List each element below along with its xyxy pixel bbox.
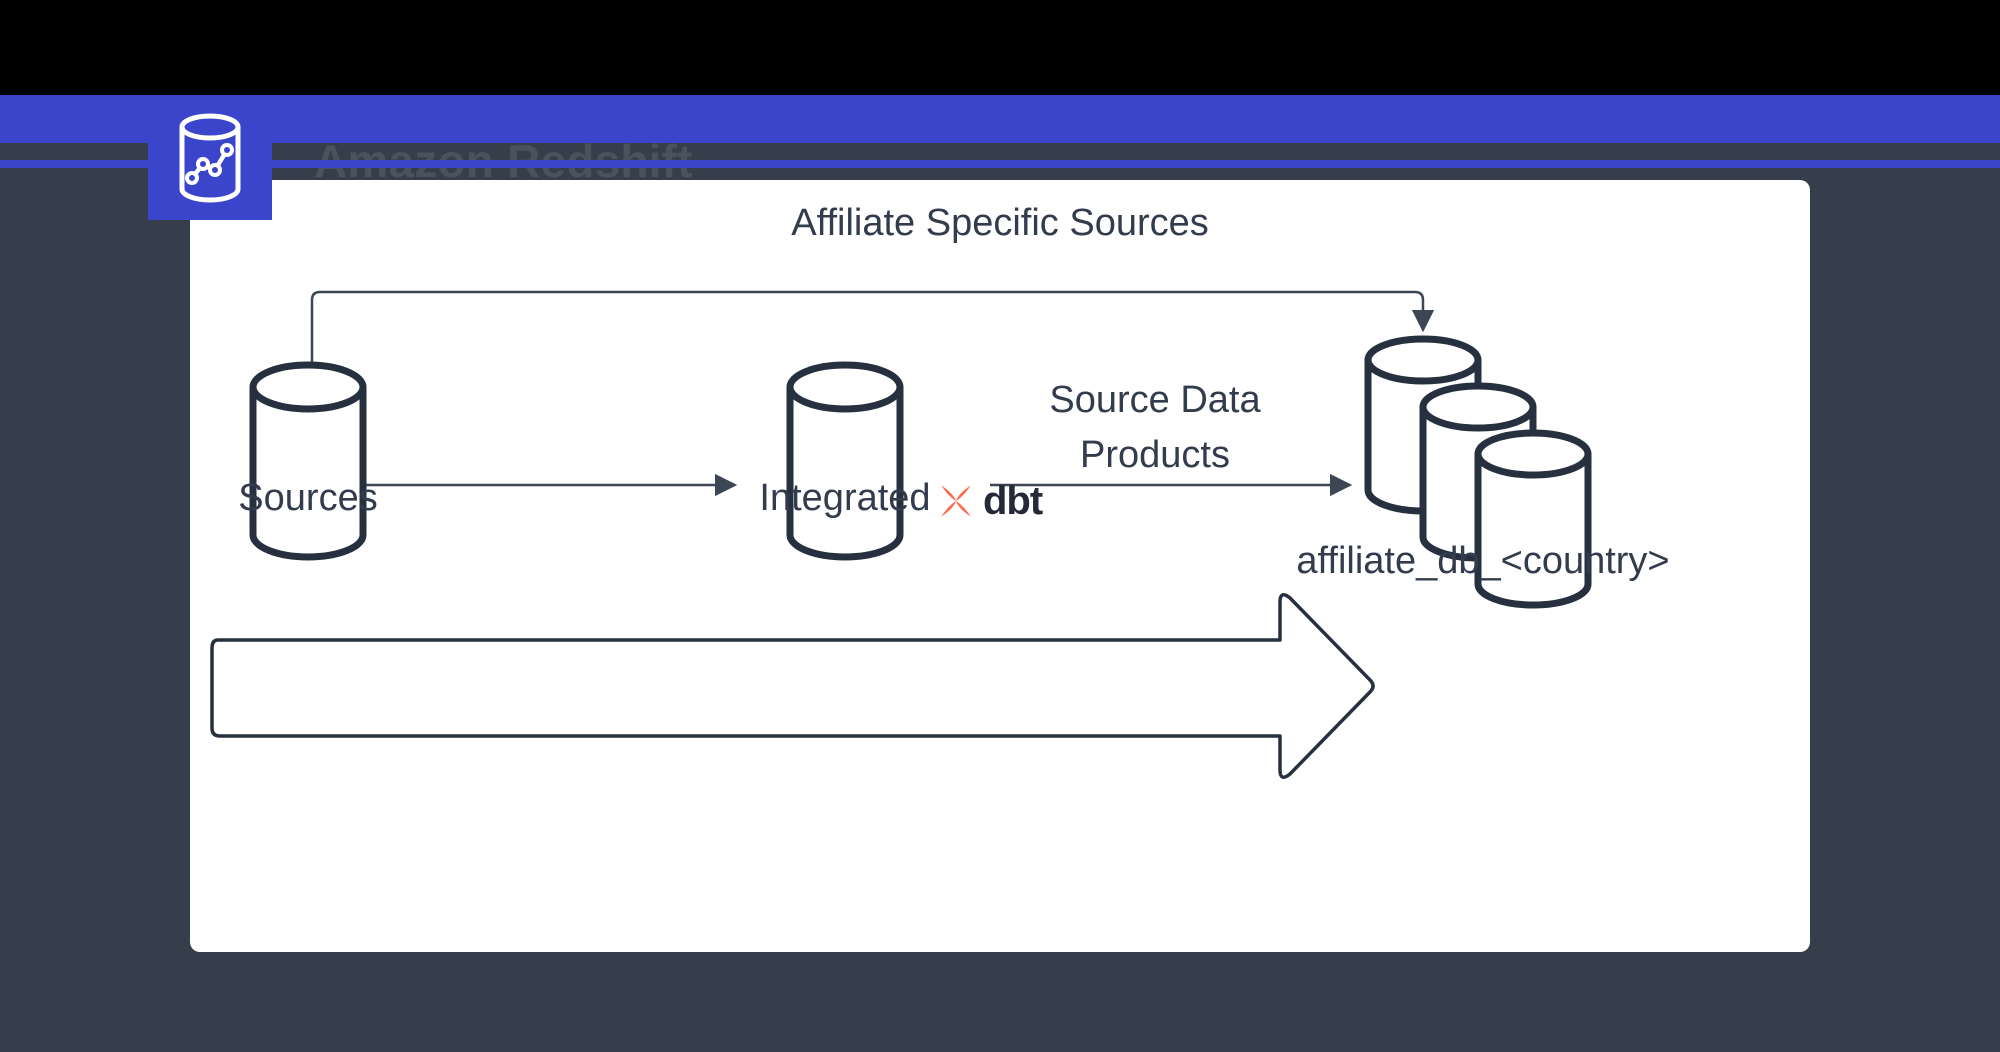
dbt-wordmark: dbt (983, 481, 1042, 521)
blue-banner (0, 95, 2000, 143)
node-label-sources: Sources (238, 477, 377, 519)
amazon-redshift-tile (148, 95, 272, 220)
dbt-x-icon (935, 480, 977, 522)
edge-label-products: Products (1080, 434, 1230, 476)
node-label-integrated: Integrated (759, 477, 930, 519)
node-integrated-cylinder (790, 365, 900, 557)
dbt-process-arrow (212, 595, 1373, 777)
pipeline-diagram: Affiliate Specific Sources Sources Integ… (190, 180, 1810, 952)
diagram-card: Affiliate Specific Sources Sources Integ… (190, 180, 1810, 952)
screenshot-stage: Amazon Redshift (0, 0, 2000, 1052)
dbt-logo: dbt (935, 480, 1042, 522)
node-label-affiliate-db: affiliate_db_<country> (1296, 540, 1669, 582)
redshift-database-chart-icon (173, 112, 247, 204)
edge-label-source-data: Source Data (1049, 379, 1261, 421)
blue-banner-secondary (0, 160, 2000, 168)
edge-label-affiliate-specific-sources: Affiliate Specific Sources (791, 202, 1209, 244)
node-sources-cylinder (253, 365, 363, 557)
